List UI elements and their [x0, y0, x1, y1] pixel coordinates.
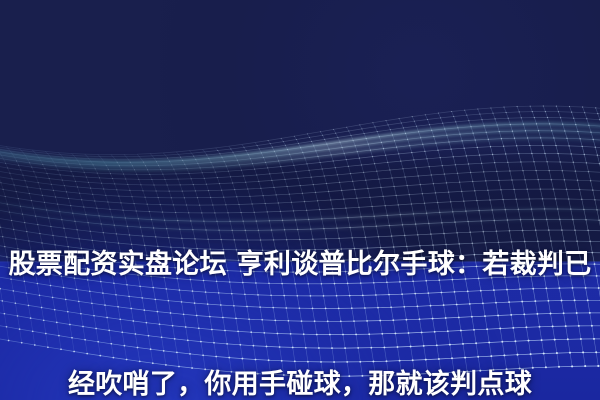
headline-line-1: 股票配资实盘论坛 亨利谈普比尔手球：若裁判已 — [0, 245, 600, 285]
article-banner: 股票配资实盘论坛 亨利谈普比尔手球：若裁判已 经吹哨了，你用手碰球，那就该判点球 — [0, 0, 600, 400]
headline-line-2: 经吹哨了，你用手碰球，那就该判点球 — [0, 365, 600, 400]
page-title: 股票配资实盘论坛 亨利谈普比尔手球：若裁判已 经吹哨了，你用手碰球，那就该判点球 — [0, 165, 600, 400]
